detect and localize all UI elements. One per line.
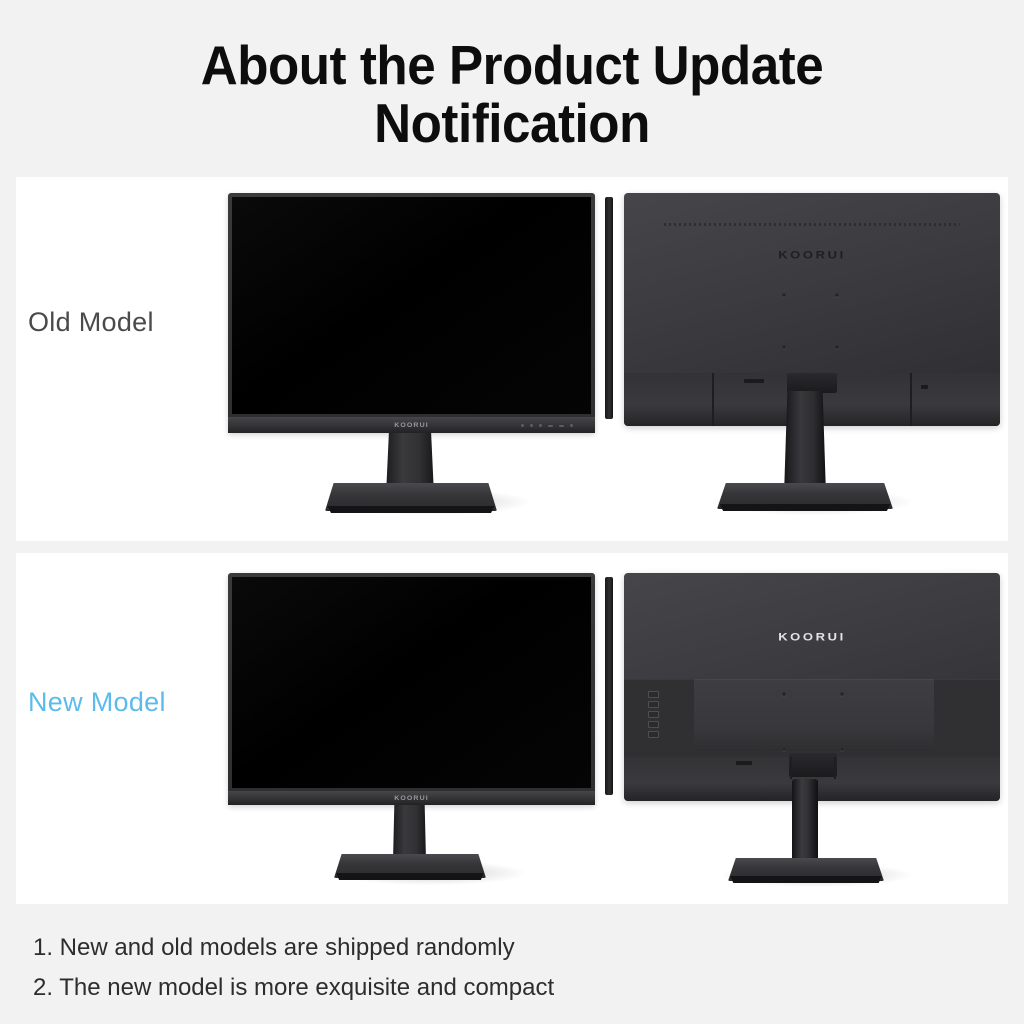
new-model-front-view: KOORUI	[220, 573, 600, 893]
port-label	[736, 761, 752, 765]
housing-seam-left	[712, 373, 714, 426]
stand-base-lip	[324, 506, 498, 513]
monitor-panel: KOORUI	[228, 573, 595, 805]
stand-neck	[792, 779, 818, 865]
stand-base-lip	[333, 873, 487, 880]
panel-side-edge	[605, 577, 613, 795]
bottom-bezel: KOORUI	[228, 791, 595, 805]
brand-logo-back: KOORUI	[624, 248, 1000, 261]
osd-control-buttons[interactable]	[521, 424, 573, 427]
old-model-label: Old Model	[28, 307, 154, 338]
stand-hinge	[787, 373, 837, 393]
port-label	[744, 379, 764, 383]
new-model-label: New Model	[28, 687, 166, 718]
recessed-panel-inner	[694, 679, 934, 751]
brand-logo-back: KOORUI	[624, 630, 1000, 643]
old-model-back-view: KOORUI	[612, 193, 1004, 523]
brand-logo-front: KOORUI	[394, 422, 429, 428]
vesa-hole	[835, 293, 839, 297]
vesa-hole	[782, 747, 786, 751]
vesa-hole	[840, 747, 844, 751]
vesa-hole	[782, 293, 786, 297]
footer-note-2: 2. The new model is more exquisite and c…	[33, 968, 554, 1008]
stand-hinge	[789, 753, 837, 777]
vesa-hole	[835, 345, 839, 349]
old-model-front-view: KOORUI	[220, 193, 600, 523]
vesa-hole	[782, 345, 786, 349]
top-vent-strip	[664, 223, 960, 226]
monitor-back-shell: KOORUI	[624, 573, 1000, 801]
vesa-hole	[840, 692, 844, 696]
monitor-screen	[232, 197, 591, 414]
new-model-back-view: KOORUI	[612, 573, 1004, 893]
monitor-screen	[232, 577, 591, 788]
stand-neck	[784, 391, 826, 495]
stand-base-lip	[716, 504, 894, 511]
hinge-seam-right	[834, 757, 836, 779]
page-title-line-1: About the Product Update	[92, 36, 933, 94]
footer-note-1: 1. New and old models are shipped random…	[33, 928, 554, 968]
side-vent-ribs	[648, 691, 659, 738]
stand-neck	[393, 805, 426, 861]
stand-base-lip	[727, 876, 885, 883]
old-model-card: KOORUI KOORUI	[16, 177, 1008, 541]
monitor-panel: KOORUI	[228, 193, 595, 433]
brand-logo-front: KOORUI	[394, 795, 429, 801]
footer-notes: 1. New and old models are shipped random…	[33, 928, 554, 1008]
panel-side-edge	[605, 197, 613, 419]
page-title: About the Product Update Notification	[0, 0, 1024, 152]
page-title-line-2: Notification	[92, 94, 933, 152]
kensington-lock-slot	[921, 385, 928, 389]
housing-seam-right	[910, 373, 912, 426]
vesa-hole	[782, 692, 786, 696]
hinge-seam-left	[790, 757, 792, 779]
new-model-card: KOORUI KOORUI	[16, 553, 1008, 904]
